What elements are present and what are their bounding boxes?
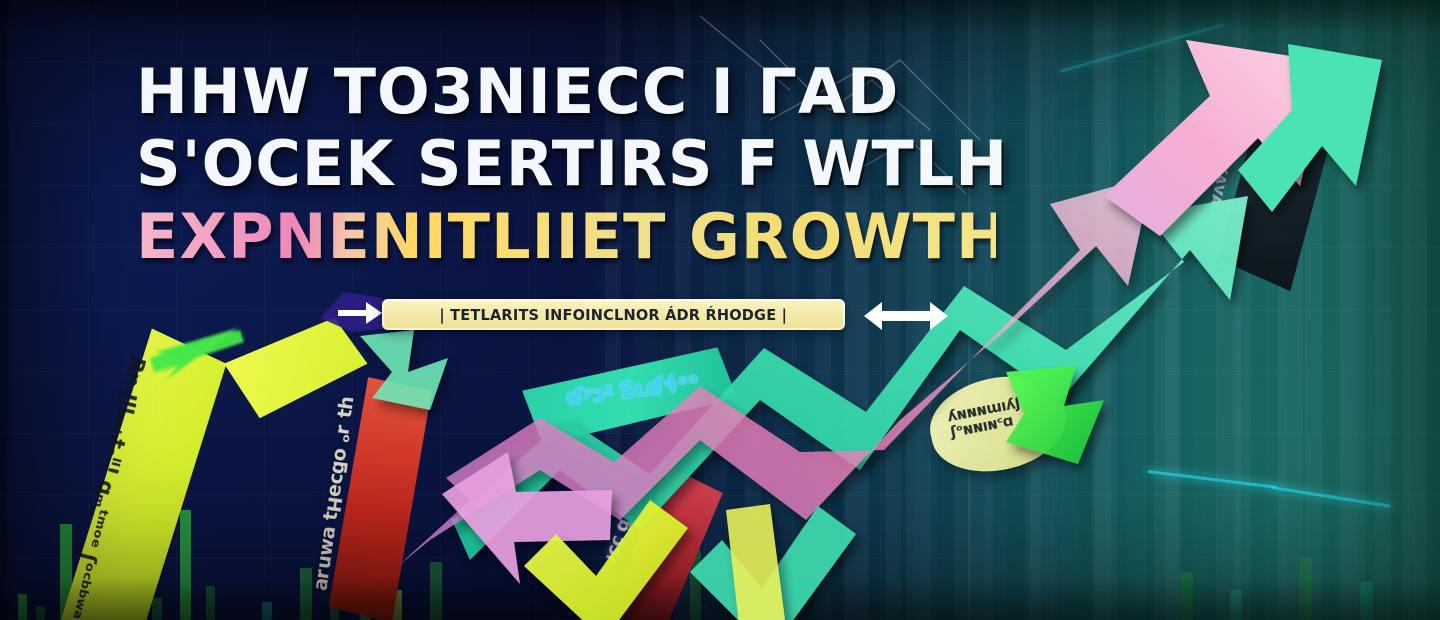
- info-badge-label: | TETLARITS INFOINCLNOR ÁDR ŔHODGE |: [440, 306, 788, 324]
- arrow-left-right-icon: [860, 296, 952, 336]
- title-block: HHW TO3NIECC I ΓAD S'OCEK SERTIRS F WTLH…: [136, 62, 996, 267]
- title-line-2: S'OCEK SERTIRS F WTLH: [136, 134, 996, 194]
- arrow-mint-small-left: [360, 330, 448, 410]
- info-badge[interactable]: | TETLARITS INFOINCLNOR ÁDR ŔHODGE |: [382, 299, 845, 330]
- title-line-1: HHW TO3NIECC I ΓAD: [136, 62, 996, 122]
- thumbnail-canvas: Rn Jllₐₓₕtₐᴵᴵ! ɑₘᵗᵐᵒᵉ ʃᵒᶜᵇᵇʷᵃ ɥʇ ɹᵒ oƃɔǝ…: [0, 0, 1440, 620]
- arrow-down-left-icon-green: [150, 328, 244, 380]
- arrow-down-right-green: [1006, 366, 1104, 464]
- title-line-3: EXPNENITLIIET GROWTH: [136, 207, 996, 267]
